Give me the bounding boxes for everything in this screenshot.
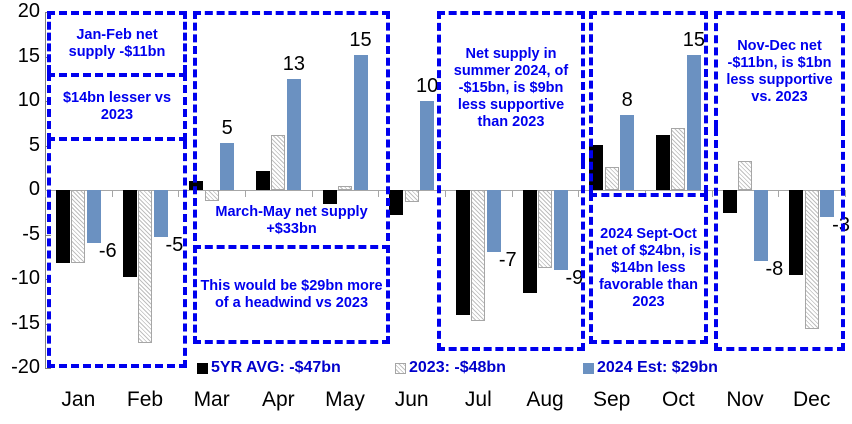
bar-jun-y2024 xyxy=(420,101,434,190)
annotation-march-may-headwind: This would be $29bn more of a headwind v… xyxy=(193,245,390,344)
legend-label-2023: 2023: -$48bn xyxy=(409,359,506,377)
y-axis-tick-label: -10 xyxy=(0,268,40,288)
legend-item-2024-est: 2024 Est: $29bn xyxy=(583,359,718,377)
y-axis-tick-label: 15 xyxy=(0,46,40,66)
x-axis-label-jul: Jul xyxy=(445,388,511,412)
legend-item-5yr-avg: 5YR AVG: -$47bn xyxy=(197,359,341,377)
x-axis-tick xyxy=(845,190,846,197)
y-axis-tick-label: 5 xyxy=(0,135,40,155)
y-axis-tick-label: 0 xyxy=(0,179,40,199)
annotation-summer-net-supply: Net supply in summer 2024, of -$15bn, is… xyxy=(437,11,585,161)
y-axis-tick-label: 20 xyxy=(0,1,40,21)
y-axis-tick-label: -15 xyxy=(0,313,40,333)
annotation-summer-frame xyxy=(437,161,585,351)
legend-label-5yr-avg: 5YR AVG: -$47bn xyxy=(211,359,341,377)
x-axis-tick xyxy=(712,190,713,197)
x-axis-label-aug: Aug xyxy=(512,388,578,412)
x-axis-label-apr: Apr xyxy=(245,388,311,412)
legend-swatch-2023-icon xyxy=(395,363,406,374)
annotation-jan-feb-net-supply: Jan-Feb net supply -$11bn xyxy=(47,11,187,73)
x-axis-label-sep: Sep xyxy=(579,388,645,412)
annotation-march-may-net-supply: March-May net supply +$33bn xyxy=(193,197,390,245)
annotation-jan-feb-lesser: $14bn lesser vs 2023 xyxy=(47,73,187,141)
annotation-jan-feb-frame xyxy=(47,141,187,368)
annotation-summer-net-supply-text: Net supply in summer 2024, of -$15bn, is… xyxy=(443,46,579,131)
annotation-sept-oct-frame xyxy=(589,11,708,193)
x-axis-label-may: May xyxy=(312,388,378,412)
annotation-march-may-net-supply-text: March-May net supply +$33bn xyxy=(195,204,388,238)
annotation-nov-dec-net: Nov-Dec net -$11bn, is $1bn less support… xyxy=(714,11,845,128)
x-axis-tick xyxy=(45,190,46,197)
annotation-sept-oct-net-text: 2024 Sept-Oct net of $24bn, is $14bn les… xyxy=(595,226,702,311)
legend-item-2023: 2023: -$48bn xyxy=(395,359,506,377)
annotation-march-may-headwind-text: This would be $29bn more of a headwind v… xyxy=(199,278,384,312)
y-axis-tick-label: 10 xyxy=(0,90,40,110)
net-supply-bar-chart: 20151050-5-10-15-20 -6-55131510-7-9815-8… xyxy=(0,0,852,424)
annotation-nov-dec-frame xyxy=(714,128,845,351)
annotation-nov-dec-net-text: Nov-Dec net -$11bn, is $1bn less support… xyxy=(720,38,839,106)
x-axis-label-feb: Feb xyxy=(112,388,178,412)
legend-label-2024-est: 2024 Est: $29bn xyxy=(597,359,718,377)
annotation-sept-oct-net: 2024 Sept-Oct net of $24bn, is $14bn les… xyxy=(589,193,708,344)
y-axis-tick-label: -20 xyxy=(0,357,40,377)
x-axis-label-dec: Dec xyxy=(779,388,845,412)
x-axis-label-jun: Jun xyxy=(379,388,445,412)
x-axis-label-jan: Jan xyxy=(45,388,111,412)
bar-jun-avg5 xyxy=(389,190,403,215)
y-axis-tick-label: -5 xyxy=(0,224,40,244)
bar-jun-y2023 xyxy=(405,190,419,202)
legend-swatch-5yr-avg-icon xyxy=(197,363,208,374)
x-axis-label-nov: Nov xyxy=(712,388,778,412)
legend-swatch-2024-icon xyxy=(583,363,594,374)
x-axis-label-oct: Oct xyxy=(645,388,711,412)
x-axis-label-mar: Mar xyxy=(179,388,245,412)
annotation-jan-feb-lesser-text: $14bn lesser vs 2023 xyxy=(53,90,181,124)
annotation-jan-feb-net-supply-text: Jan-Feb net supply -$11bn xyxy=(53,27,181,61)
